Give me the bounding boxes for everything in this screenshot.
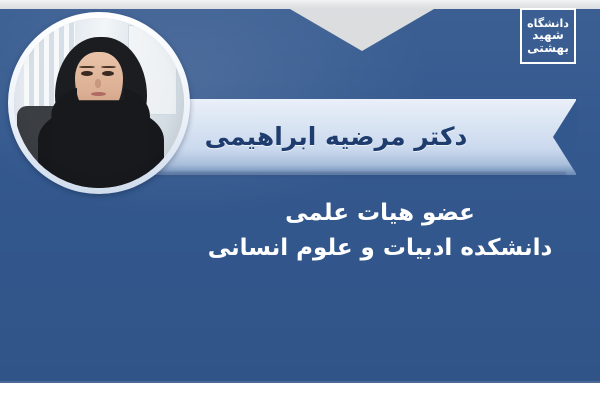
photo-vignette (14, 18, 184, 188)
subtitle-line-2: دانشکده ادبیات و علوم انسانی (190, 233, 570, 264)
university-logo: دانشگاه شهید بهشتی روابط عمومی و اطلاع ر… (492, 6, 592, 80)
portrait (8, 12, 190, 194)
portrait-photo (14, 18, 184, 188)
subtitle-line-1: عضو هیات علمی (190, 198, 570, 229)
subtitle-block: عضو هیات علمی دانشکده ادبیات و علوم انسا… (190, 198, 570, 264)
person-name: دکتر مرضیه ابراهیمی (130, 104, 542, 168)
faculty-profile-card: دانشگاه شهید بهشتی روابط عمومی و اطلاع ر… (0, 0, 600, 400)
panel-bottom-hairline (0, 381, 600, 383)
logo-arc-text: روابط عمومی و اطلاع رسانی (492, 40, 584, 80)
logo-arc-label: روابط عمومی و اطلاع رسانی (492, 40, 497, 43)
